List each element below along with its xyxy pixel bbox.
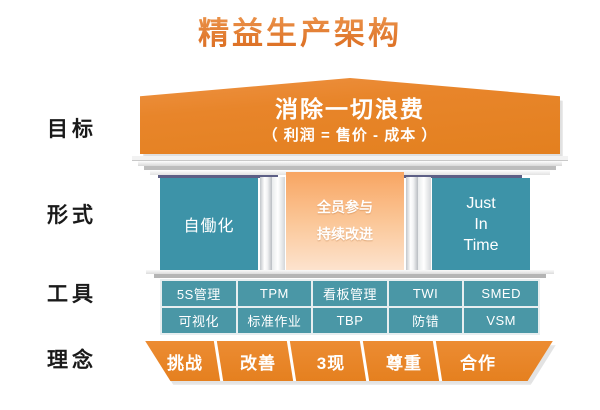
roof-text-block: 消除一切浪费 （ 利润 = 售价 - 成本 ） — [140, 94, 560, 147]
tool-cell[interactable]: TPM — [238, 281, 312, 306]
foundation-cell[interactable]: 尊重 — [368, 341, 440, 381]
column-shaft-right-outer — [418, 177, 431, 273]
pillar-center-line2: 持续改进 — [317, 221, 373, 248]
foundation-cell[interactable]: 合作 — [441, 341, 515, 381]
column-shaft-right-inner — [406, 177, 418, 273]
tool-cell[interactable]: TBP — [313, 308, 387, 333]
pillar-jit-line3: Time — [464, 235, 499, 256]
pillar-center-kaizen: 全员参与 持续改进 — [286, 172, 404, 270]
column-shaft-left-outer — [272, 177, 285, 273]
foundation-cell[interactable]: 改善 — [222, 341, 294, 381]
row-label-idea: 理念 — [24, 344, 120, 374]
plinth-band-2 — [154, 274, 546, 278]
column-shaft-left-inner — [260, 177, 272, 273]
tools-grid: 5S管理 TPM 看板管理 TWI SMED 可视化 标准作业 TBP 防错 V… — [160, 279, 540, 335]
pillar-jidoka-label: 自働化 — [183, 212, 234, 236]
pillar-jit-line1: Just — [466, 193, 495, 214]
page-title: 精益生产架构 — [0, 8, 600, 53]
pillar-jidoka: 自働化 — [160, 178, 258, 270]
tool-cell[interactable]: 防错 — [389, 308, 463, 333]
tool-cell[interactable]: TWI — [389, 281, 463, 306]
roof-main-text: 消除一切浪费 — [140, 94, 560, 124]
row-label-form: 形式 — [24, 199, 120, 229]
row-label-goal: 目标 — [24, 113, 120, 143]
foundation-cell[interactable]: 挑战 — [148, 341, 222, 381]
tool-cell[interactable]: 看板管理 — [313, 281, 387, 306]
pillar-just-in-time: Just In Time — [432, 178, 530, 270]
tool-cell[interactable]: 可视化 — [162, 308, 236, 333]
roof-section: 消除一切浪费 （ 利润 = 售价 - 成本 ） — [140, 78, 560, 158]
lean-production-temple-diagram: 消除一切浪费 （ 利润 = 售价 - 成本 ） 自働化 全员参与 持续改进 Ju… — [120, 78, 580, 393]
row-label-tools: 工具 — [24, 278, 120, 308]
roof-sub-text: （ 利润 = 售价 - 成本 ） — [140, 124, 560, 147]
tool-cell[interactable]: VSM — [464, 308, 538, 333]
pillar-jit-line2: In — [474, 214, 487, 235]
tool-cell[interactable]: 5S管理 — [162, 281, 236, 306]
pillar-center-line1: 全员参与 — [317, 194, 373, 221]
tool-cell[interactable]: 标准作业 — [238, 308, 312, 333]
foundation-section: 挑战 改善 3现 尊重 合作 — [120, 341, 580, 383]
foundation-cell[interactable]: 3现 — [295, 341, 367, 381]
tool-cell[interactable]: SMED — [464, 281, 538, 306]
